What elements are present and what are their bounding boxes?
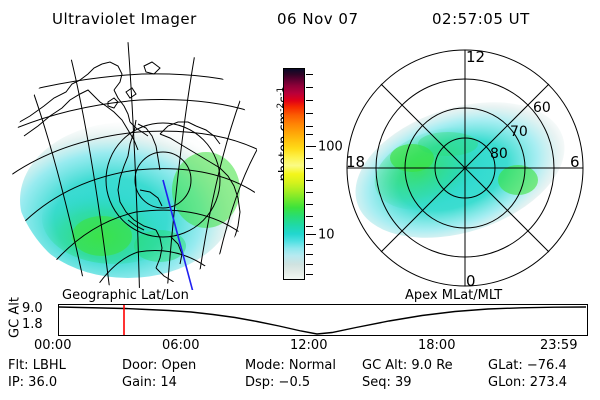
status-gain: Gain: 14	[122, 375, 177, 390]
orbit-altitude-plot[interactable]	[58, 304, 588, 336]
image-panels: photon cm-2s-1 100 10	[0, 40, 600, 290]
geographic-panel-title: Geographic Lat/Lon	[62, 288, 189, 303]
status-glat: GLat: −76.4	[488, 358, 567, 373]
status-row: IP: 36.0 Gain: 14 Dsp: −0.5 Seq: 39 GLon…	[0, 375, 600, 393]
orbit-y-tick-max: 9.0	[22, 301, 43, 316]
orbit-y-tick-min: 1.8	[22, 317, 43, 332]
orbit-x-tick-2: 12:00	[290, 338, 327, 353]
mlat-label-80: 80	[490, 146, 508, 162]
header-bar: Ultraviolet Imager 06 Nov 07 02:57:05 UT	[0, 6, 600, 32]
apex-panel-title: Apex MLat/MLT	[405, 288, 502, 303]
orbit-x-tick-3: 18:00	[418, 338, 455, 353]
status-glon: GLon: 273.4	[488, 375, 567, 390]
colorbar-tick-100	[306, 146, 316, 147]
instrument-title: Ultraviolet Imager	[52, 10, 197, 28]
orbit-x-tick-1: 06:00	[162, 338, 199, 353]
orbit-altitude-strip[interactable]: Geographic Lat/Lon Apex MLat/MLT GC Alt …	[0, 288, 600, 350]
colorbar-tick-10	[306, 234, 316, 235]
mlt-label-12: 12	[466, 48, 485, 66]
orbit-x-tick-4: 23:59	[540, 338, 577, 353]
mlat-label-70: 70	[510, 124, 528, 140]
mlt-label-6: 6	[570, 153, 580, 171]
orbit-altitude-trace	[59, 307, 586, 334]
apex-polar-plot[interactable]: 12 6 0 18 60 70 80	[340, 40, 590, 290]
status-flt: Flt: LBHL	[8, 358, 66, 373]
status-row: Flt: LBHL Door: Open Mode: Normal GC Alt…	[0, 358, 600, 376]
status-ip: IP: 36.0	[8, 375, 57, 390]
status-seq: Seq: 39	[362, 375, 412, 390]
mlt-label-18: 18	[346, 153, 365, 171]
apex-mlt-spokes	[347, 50, 583, 286]
status-door: Door: Open	[122, 358, 196, 373]
status-dsp: Dsp: −0.5	[245, 375, 310, 390]
orbit-x-tick-0: 00:00	[34, 338, 71, 353]
observation-date: 06 Nov 07	[277, 10, 359, 28]
status-gc-alt: GC Alt: 9.0 Re	[362, 358, 453, 373]
colorbar-label-10: 10	[318, 228, 335, 243]
orbit-y-axis-label: GC Alt	[8, 291, 23, 345]
observation-time: 02:57:05 UT	[432, 10, 530, 28]
geographic-polar-plot[interactable]	[10, 40, 260, 290]
status-block: Flt: LBHL Door: Open Mode: Normal GC Alt…	[0, 358, 600, 398]
mlat-label-60: 60	[533, 100, 551, 116]
colorbar-gradient[interactable]	[283, 68, 305, 280]
status-mode: Mode: Normal	[245, 358, 336, 373]
colorbar-group: photon cm-2s-1 100 10	[262, 68, 338, 290]
